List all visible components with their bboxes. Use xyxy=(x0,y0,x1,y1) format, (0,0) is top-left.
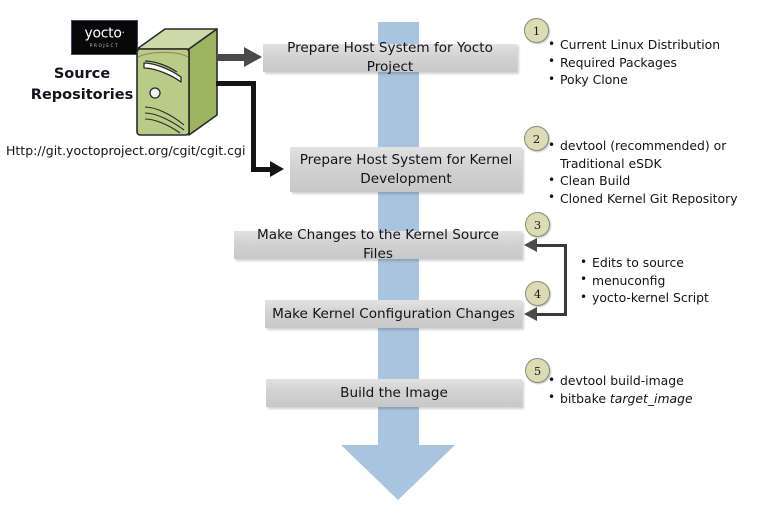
bracket-horizontal-step4 xyxy=(536,313,565,316)
connector-server-to-step2-horizontal-top xyxy=(216,81,256,86)
connector-server-to-step1 xyxy=(216,54,246,61)
list-item: devtool build-image xyxy=(548,372,693,390)
yocto-logo-wordmark: yocto· xyxy=(85,27,125,41)
bullet-list-step1: Current Linux Distribution Required Pack… xyxy=(548,36,720,89)
yocto-project-logo: yocto· PROJECT xyxy=(71,20,138,55)
server-tower-icon xyxy=(134,27,220,139)
process-box-step2-label-line2: Development xyxy=(360,171,452,187)
list-item: Clean Build xyxy=(548,172,738,190)
list-item: bitbake target_image xyxy=(548,390,693,408)
bullet-list-step5: devtool build-image bitbake target_image xyxy=(548,372,693,407)
yocto-logo-text: yocto xyxy=(85,26,122,42)
list-item: Poky Clone xyxy=(548,71,720,89)
process-box-step2-label: Prepare Host System for Kernel Developme… xyxy=(300,151,513,189)
list-item-line2: Traditional eSDK xyxy=(560,155,738,173)
process-box-step4-label: Make Kernel Configuration Changes xyxy=(272,305,515,324)
flow-arrow-head xyxy=(341,445,455,500)
process-box-step5-label: Build the Image xyxy=(340,384,448,403)
bracket-vertical-steps-3-4 xyxy=(564,244,567,316)
list-item: devtool (recommended) or Traditional eSD… xyxy=(548,137,738,172)
list-item-command: bitbake xyxy=(560,391,610,406)
process-box-step3-label: Make Changes to the Kernel Source Files xyxy=(240,226,516,264)
bullet-list-step2: devtool (recommended) or Traditional eSD… xyxy=(548,137,738,207)
list-item: Edits to source xyxy=(580,254,709,272)
list-item-line1: devtool (recommended) or xyxy=(560,138,726,153)
bracket-arrow-step3 xyxy=(524,238,537,252)
step-badge-5: 5 xyxy=(525,358,550,383)
process-box-step2[interactable]: Prepare Host System for Kernel Developme… xyxy=(290,147,522,192)
yocto-logo-subtext: PROJECT xyxy=(90,43,119,48)
diagram-canvas: yocto· PROJECT Source Repositories Http:… xyxy=(0,0,769,517)
connector-arrow-step2 xyxy=(270,161,284,177)
process-box-step1[interactable]: Prepare Host System for Yocto Project xyxy=(263,44,517,72)
yocto-logo-dot: · xyxy=(122,28,125,39)
list-item: Cloned Kernel Git Repository xyxy=(548,190,738,208)
bullet-list-steps-3-4: Edits to source menuconfig yocto-kernel … xyxy=(580,254,709,307)
process-box-step1-label: Prepare Host System for Yocto Project xyxy=(269,39,511,77)
step-badge-4: 4 xyxy=(525,281,550,306)
step-badge-3: 3 xyxy=(525,212,550,237)
bracket-horizontal-step3 xyxy=(536,244,565,247)
list-item: yocto-kernel Script xyxy=(580,289,709,307)
connector-server-to-step2-vertical xyxy=(251,81,256,171)
source-repository-url: Http://git.yoctoproject.org/cgit/cgit.cg… xyxy=(6,143,245,158)
source-label-line1: Source xyxy=(24,64,140,85)
connector-arrow-step1 xyxy=(244,47,262,67)
list-item: menuconfig xyxy=(580,272,709,290)
source-repositories-label: Source Repositories xyxy=(24,64,140,106)
list-item-command-arg: target_image xyxy=(610,391,693,406)
process-box-step4[interactable]: Make Kernel Configuration Changes xyxy=(265,300,522,328)
list-item: Current Linux Distribution xyxy=(548,36,720,54)
process-box-step2-label-line1: Prepare Host System for Kernel xyxy=(300,152,513,168)
bracket-arrow-step4 xyxy=(524,307,537,321)
step-badge-2: 2 xyxy=(524,126,549,151)
source-label-line2: Repositories xyxy=(24,85,140,106)
step-badge-1: 1 xyxy=(524,18,549,43)
list-item: Required Packages xyxy=(548,54,720,72)
process-box-step3[interactable]: Make Changes to the Kernel Source Files xyxy=(234,231,522,259)
process-box-step5[interactable]: Build the Image xyxy=(266,379,522,407)
